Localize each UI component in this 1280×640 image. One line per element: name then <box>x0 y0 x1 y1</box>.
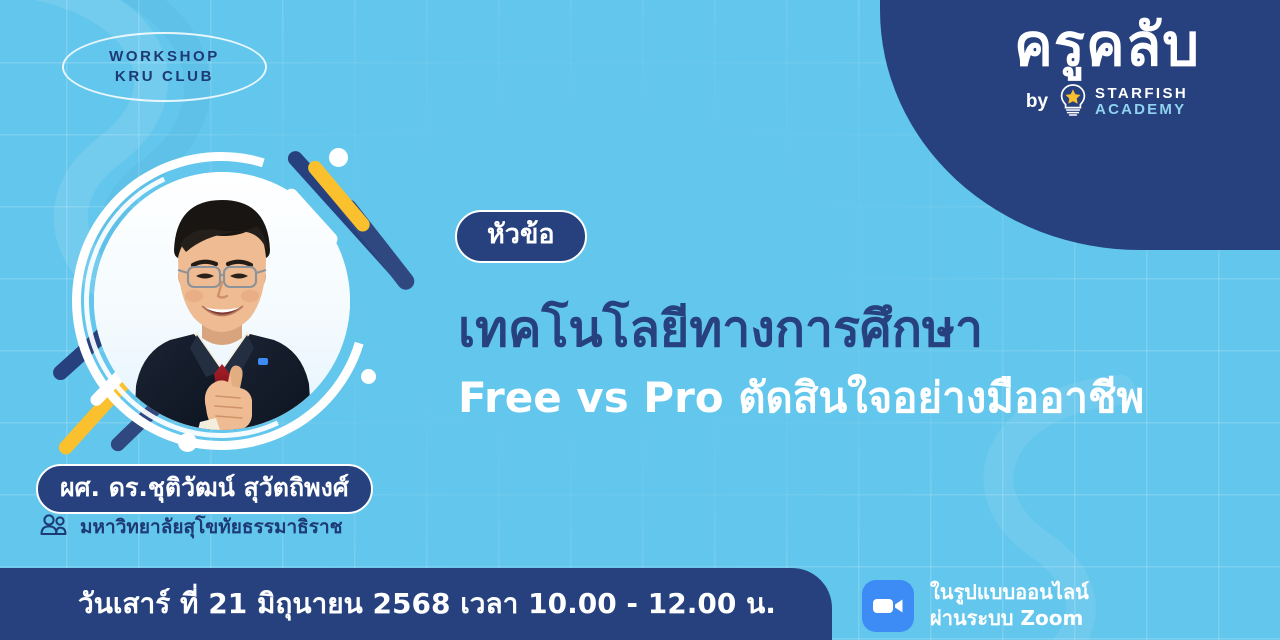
brand-by-row: by STARFISH ACADEMY <box>952 83 1262 122</box>
partner-name: STARFISH <box>1095 86 1188 102</box>
brand-title: ครูคลับ <box>952 12 1262 79</box>
speaker-portrait-image <box>94 172 350 430</box>
photo-accent-dot-bottom <box>178 433 197 452</box>
workshop-kru-club-logo: WORKSHOP KRU CLUB <box>62 32 267 102</box>
speaker-affiliation-text: มหาวิทยาลัยสุโขทัยธรรมาธิราช <box>80 512 343 542</box>
delivery-line-2: ผ่านระบบ Zoom <box>930 606 1089 632</box>
topic-badge-label: หัวข้อ <box>487 221 555 249</box>
delivery-info: ในรูปแบบออนไลน์ ผ่านระบบ Zoom <box>862 580 1089 632</box>
starfish-academy-logo: STARFISH ACADEMY <box>1058 83 1188 122</box>
photo-accent-dot-top <box>329 148 348 167</box>
workshop-logo-line2: KRU CLUB <box>115 67 214 87</box>
schedule-date-time: วันเสาร์ ที่ 21 มิถุนายน 2568 เวลา 10.00… <box>78 582 776 626</box>
speaker-name-badge: ผศ. ดร.ชุติวัฒน์ สุวัตถิพงศ์ <box>36 464 373 514</box>
event-promo-banner: ครูคลับ by STARFISH ACADEMY WORKSH <box>0 0 1280 640</box>
partner-subname: ACADEMY <box>1095 102 1188 118</box>
topic-badge: หัวข้อ <box>455 210 587 263</box>
people-group-icon <box>38 513 68 542</box>
workshop-logo-line1: WORKSHOP <box>109 47 220 67</box>
delivery-line-1: ในรูปแบบออนไลน์ <box>930 580 1089 606</box>
lightbulb-star-icon <box>1058 83 1088 122</box>
brand-lockup: ครูคลับ by STARFISH ACADEMY <box>952 12 1262 122</box>
speaker-affiliation: มหาวิทยาลัยสุโขทัยธรรมาธิราช <box>38 512 343 542</box>
delivery-text: ในรูปแบบออนไลน์ ผ่านระบบ Zoom <box>930 580 1089 631</box>
topic-subheadline: Free vs Pro ตัดสินใจอย่างมืออาชีพ <box>458 375 1144 421</box>
speaker-name-text: ผศ. ดร.ชุติวัฒน์ สุวัตถิพงศ์ <box>60 474 349 502</box>
zoom-video-camera-icon <box>862 580 914 632</box>
photo-accent-dot-side <box>361 369 376 384</box>
starfish-academy-text: STARFISH ACADEMY <box>1095 86 1188 118</box>
schedule-bar: วันเสาร์ ที่ 21 มิถุนายน 2568 เวลา 10.00… <box>0 568 832 640</box>
topic-headline: เทคโนโลยีทางการศึกษา <box>458 302 983 357</box>
speaker-photo <box>72 152 370 450</box>
brand-by-label: by <box>1026 91 1048 113</box>
